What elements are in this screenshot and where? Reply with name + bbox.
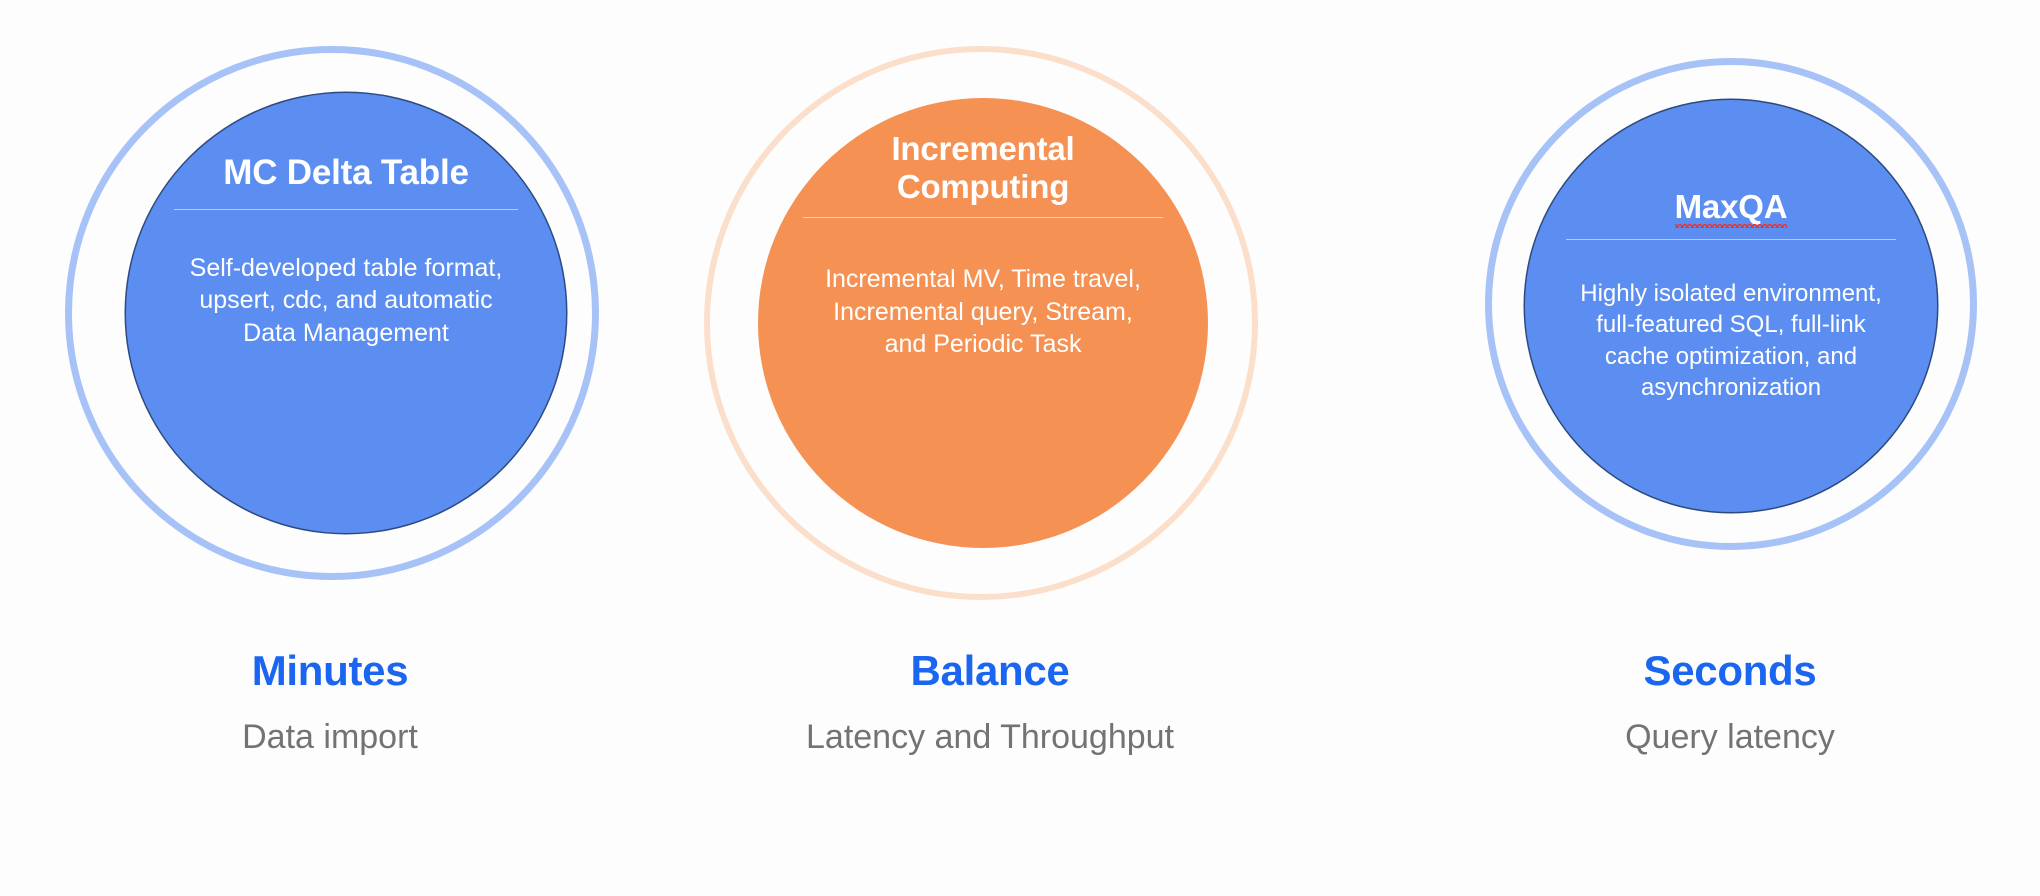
capability-column-incremental-computing: Incremental Computing Incremental MV, Ti… [690, 0, 1290, 896]
circle-title: MC Delta Table [157, 153, 535, 193]
inner-circle-maxqa[interactable]: MaxQA Highly isolated environment, full-… [1525, 100, 1937, 512]
spellcheck-underline-text: MaxQA [1675, 188, 1788, 228]
circle-title: Incremental Computing [790, 130, 1177, 205]
circle-divider [174, 209, 517, 210]
caption-block-minutes: Minutes Data import [30, 650, 630, 754]
caption-subtitle: Query latency [1430, 720, 2030, 754]
caption-subtitle: Latency and Throughput [690, 720, 1290, 754]
circle-body-text: Self-developed table format, upsert, cdc… [144, 252, 549, 350]
circle-group-mc-delta-table: MC Delta Table Self-developed table form… [30, 0, 630, 610]
inner-circle-incremental-computing[interactable]: Incremental Computing Incremental MV, Ti… [758, 98, 1208, 548]
circle-group-incremental-computing: Incremental Computing Incremental MV, Ti… [690, 0, 1290, 610]
circle-body-text: Incremental MV, Time travel, Incremental… [776, 263, 1190, 361]
circle-divider [1566, 239, 1896, 240]
capability-column-maxqa: MaxQA Highly isolated environment, full-… [1430, 0, 2030, 896]
circle-body-text: Highly isolated environment, full-featur… [1541, 278, 1920, 403]
caption-headline: Seconds [1430, 650, 2030, 692]
caption-subtitle: Data import [30, 720, 630, 754]
circle-title: MaxQA [1554, 150, 1908, 227]
caption-headline: Balance [690, 650, 1290, 692]
caption-block-balance: Balance Latency and Throughput [690, 650, 1290, 754]
circle-group-maxqa: MaxQA Highly isolated environment, full-… [1430, 0, 2030, 610]
capability-column-mc-delta-table: MC Delta Table Self-developed table form… [30, 0, 630, 896]
caption-block-seconds: Seconds Query latency [1430, 650, 2030, 754]
diagram-canvas: MC Delta Table Self-developed table form… [0, 0, 2040, 896]
caption-headline: Minutes [30, 650, 630, 692]
circle-divider [803, 217, 1163, 218]
inner-circle-mc-delta-table[interactable]: MC Delta Table Self-developed table form… [126, 93, 566, 533]
